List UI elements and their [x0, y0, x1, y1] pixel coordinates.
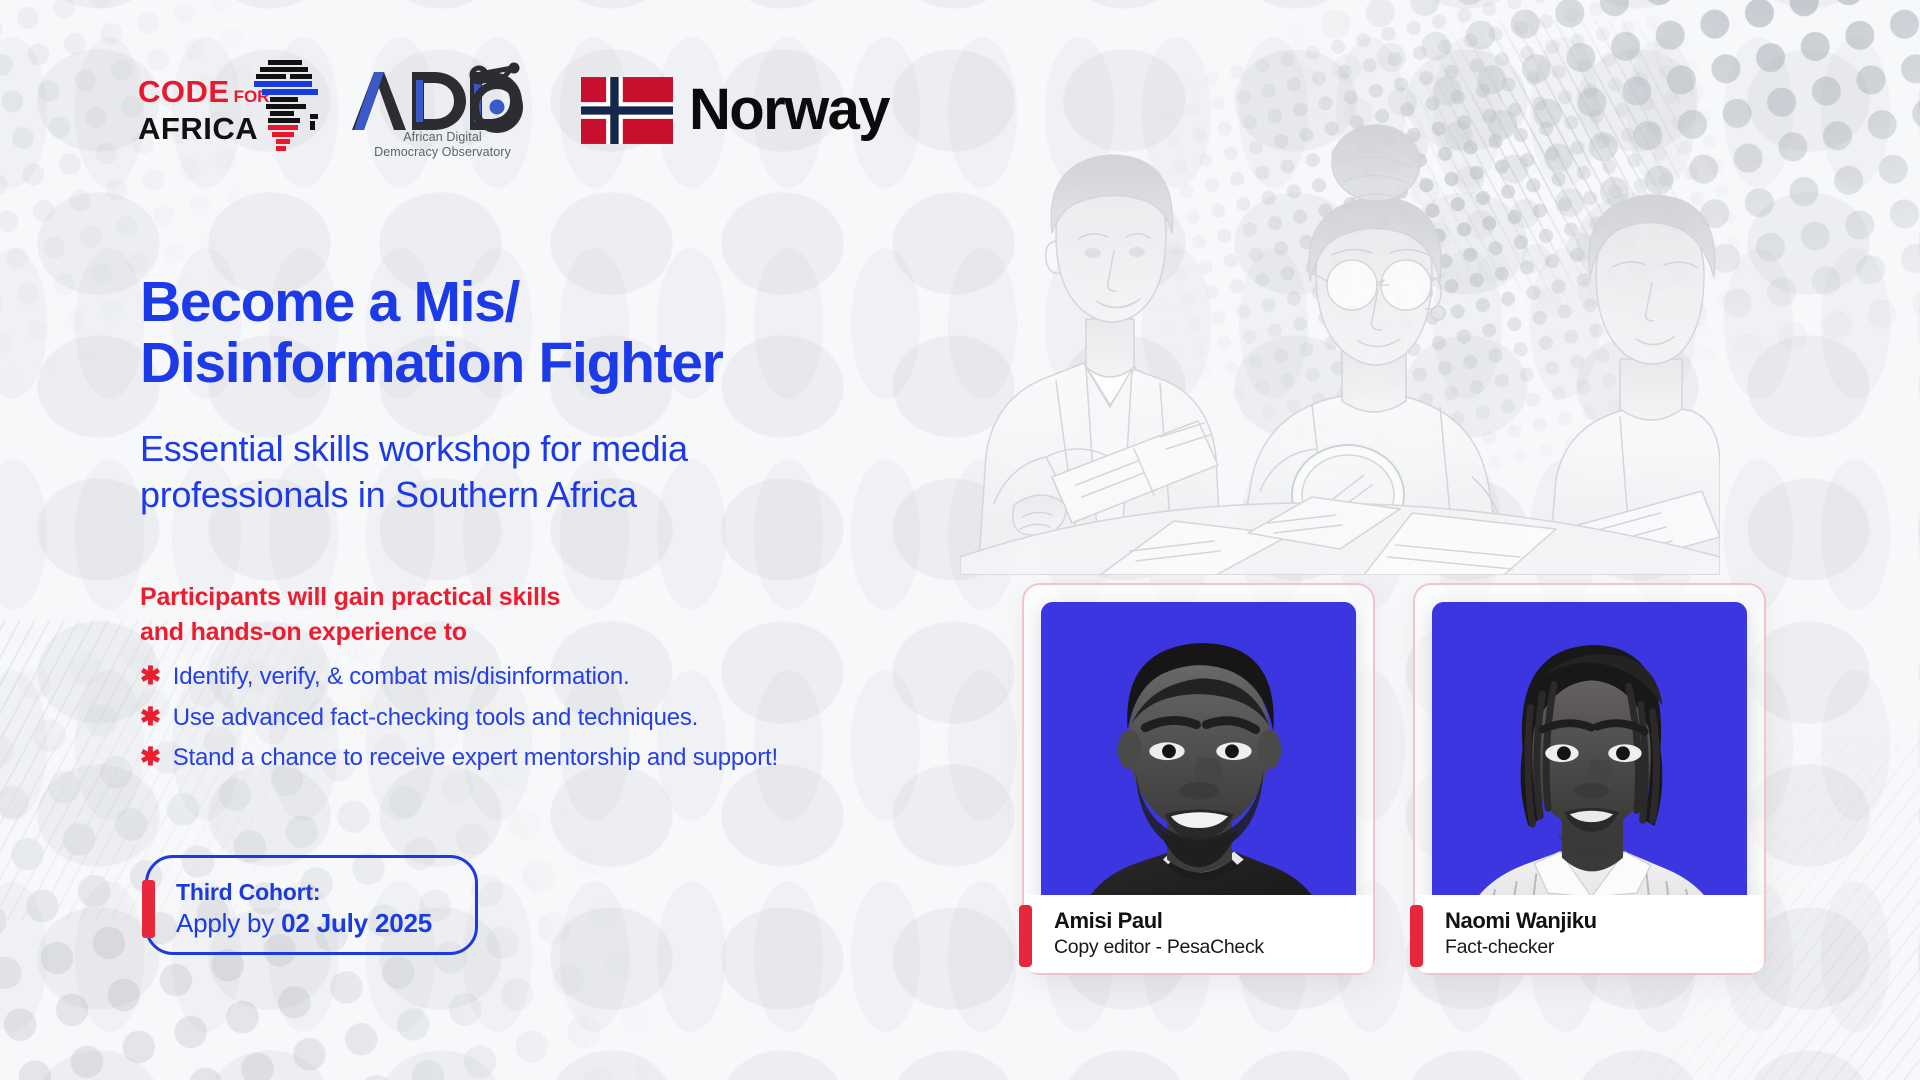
norway-flag-icon [581, 77, 673, 144]
benefits-heading-line1: Participants will gain practical skills [140, 580, 560, 615]
benefits-heading: Participants will gain practical skills … [140, 580, 560, 649]
addo-subtitle-line1: African Digital [350, 130, 535, 145]
speaker-meta: Naomi Wanjiku Fact-checker [1415, 895, 1764, 973]
apply-prefix: Apply by [176, 908, 281, 938]
subhead-line1: Essential skills workshop for media [140, 426, 688, 472]
asterisk-icon: ✱ [140, 739, 161, 777]
addo-subtitle: African Digital Democracy Observatory [350, 130, 535, 161]
list-item: ✱ Stand a chance to receive expert mento… [140, 739, 778, 777]
benefit-text: Identify, verify, & combat mis/disinform… [173, 658, 630, 695]
poster-canvas: CODE FOR AFRICA [0, 0, 1920, 1080]
benefit-text: Use advanced fact-checking tools and tec… [173, 699, 698, 736]
apply-date: 02 July 2025 [281, 908, 432, 938]
asterisk-icon: ✱ [140, 658, 161, 696]
meta-accent-bar [1410, 905, 1423, 967]
benefit-text: Stand a chance to receive expert mentors… [173, 739, 778, 776]
subhead-line2: professionals in Southern Africa [140, 472, 688, 518]
africa-barcode-icon [246, 58, 324, 161]
cohort-deadline-badge[interactable]: Third Cohort: Apply by 02 July 2025 [145, 855, 478, 955]
badge-accent-bar [142, 880, 155, 938]
list-item: ✱ Identify, verify, & combat mis/disinfo… [140, 658, 778, 696]
cfa-code-text: CODE [138, 76, 230, 107]
speaker-name: Amisi Paul [1054, 908, 1357, 935]
benefits-heading-line2: and hands-on experience to [140, 615, 560, 650]
addo-wordmark-icon [350, 70, 530, 137]
norway-wordmark: Norway [689, 81, 889, 139]
speaker-card[interactable]: Naomi Wanjiku Fact-checker [1413, 583, 1766, 975]
asterisk-icon: ✱ [140, 699, 161, 737]
addo-subtitle-line2: Democracy Observatory [350, 145, 535, 160]
team-illustration [960, 105, 1720, 575]
headline-line1: Become a Mis/ [140, 272, 723, 333]
speaker-cards: Amisi Paul Copy editor - PesaCheck [1022, 583, 1766, 975]
addo-logo[interactable]: African Digital Democracy Observatory [350, 60, 535, 160]
norway-logo[interactable]: Norway [581, 77, 889, 144]
page-subtitle: Essential skills workshop for media prof… [140, 426, 688, 517]
speaker-card[interactable]: Amisi Paul Copy editor - PesaCheck [1022, 583, 1375, 975]
list-item: ✱ Use advanced fact-checking tools and t… [140, 699, 778, 737]
code-for-africa-logo[interactable]: CODE FOR AFRICA [138, 60, 330, 160]
speaker-role: Copy editor - PesaCheck [1054, 935, 1357, 960]
benefits-list: ✱ Identify, verify, & combat mis/disinfo… [140, 658, 778, 780]
page-title: Become a Mis/ Disinformation Fighter [140, 272, 723, 394]
logo-bar: CODE FOR AFRICA [138, 60, 889, 160]
meta-accent-bar [1019, 905, 1032, 967]
cohort-label: Third Cohort: [176, 878, 432, 907]
speaker-role: Fact-checker [1445, 935, 1748, 960]
speaker-meta: Amisi Paul Copy editor - PesaCheck [1024, 895, 1373, 973]
badge-text: Third Cohort: Apply by 02 July 2025 [176, 878, 432, 941]
apply-deadline: Apply by 02 July 2025 [176, 907, 432, 940]
speaker-name: Naomi Wanjiku [1445, 908, 1748, 935]
headline-line2: Disinformation Fighter [140, 333, 723, 394]
